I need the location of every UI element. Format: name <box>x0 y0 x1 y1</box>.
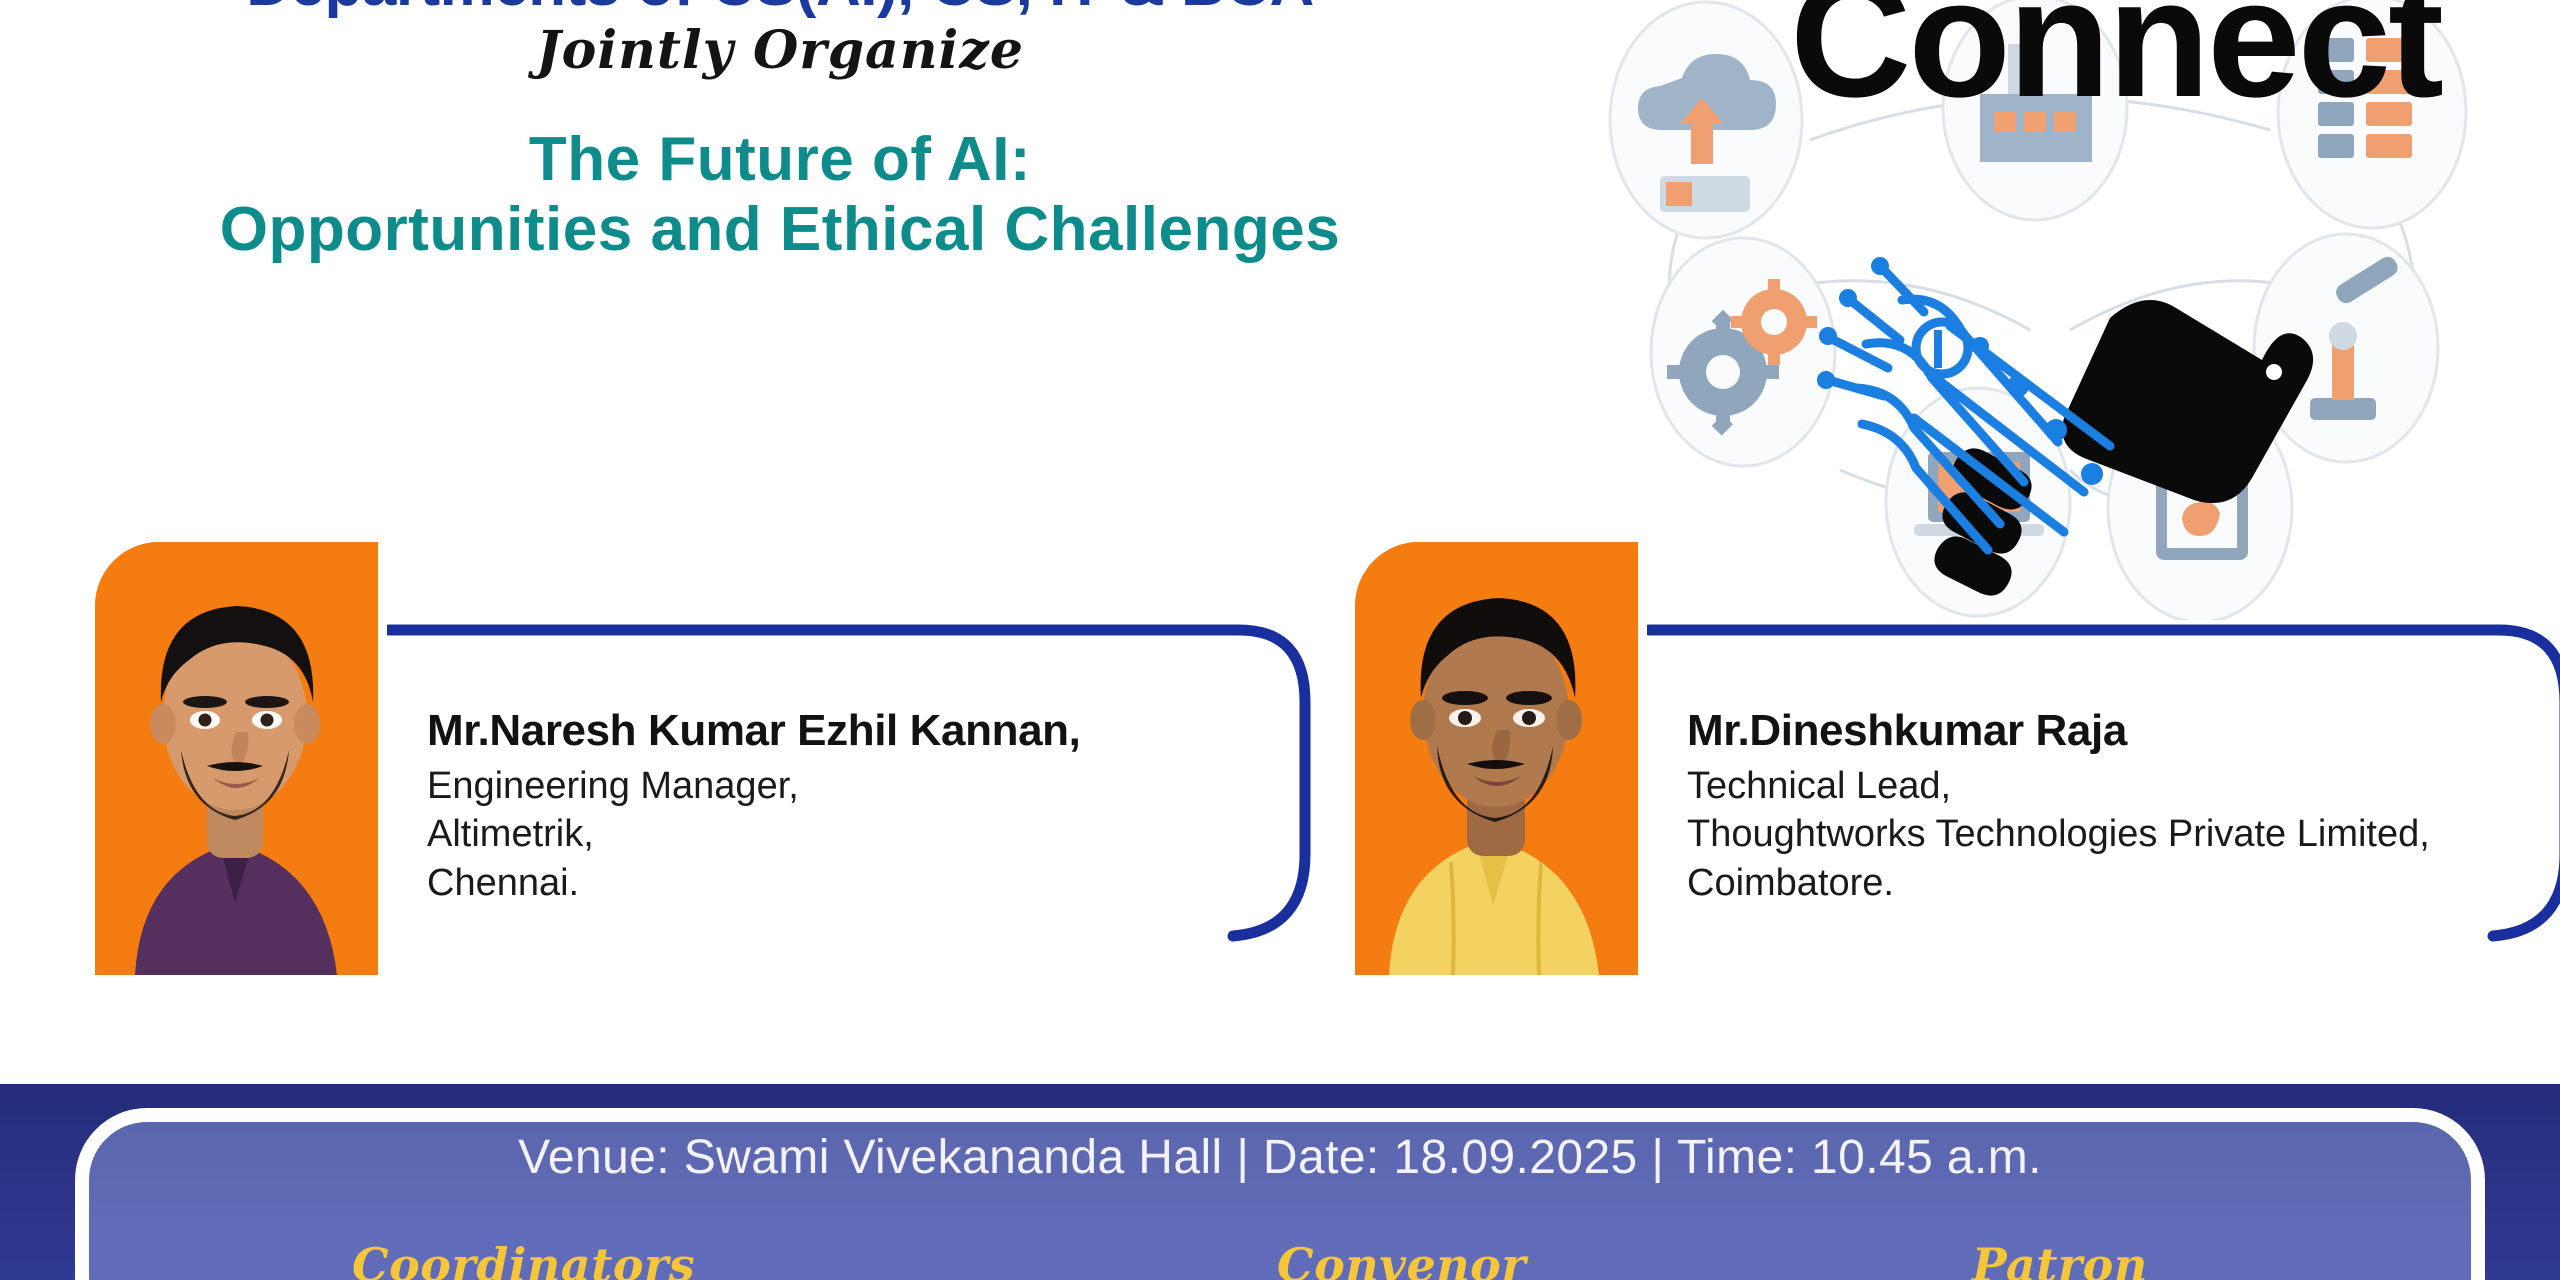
speaker-info-card-1: Mr.Naresh Kumar Ezhil Kannan, Engineerin… <box>387 622 1317 942</box>
cloud-upload-icon <box>1610 2 1802 238</box>
speaker-role-2: Technical Lead, <box>1687 762 2430 810</box>
speakers-row: Mr.Naresh Kumar Ezhil Kannan, Engineerin… <box>0 520 2560 1040</box>
speaker-city-1: Chennai. <box>427 859 1080 907</box>
speaker-info-card-2: Mr.Dineshkumar Raja Technical Lead, Thou… <box>1647 622 2560 942</box>
speaker-photo-2 <box>1355 542 1638 975</box>
role-label-patron: Patron <box>1972 1238 2148 1280</box>
venue-date-time-line: Venue: Swami Vivekananda Hall | Date: 18… <box>0 1130 2560 1185</box>
poster-header: Departments of CS(AI), CS, IT & BCA Join… <box>0 0 1560 264</box>
speaker-photo-1 <box>95 542 378 975</box>
speaker-info-text-2: Mr.Dineshkumar Raja Technical Lead, Thou… <box>1687 706 2430 907</box>
speaker-city-2: Coimbatore. <box>1687 859 2430 907</box>
speaker-company-1: Altimetrik, <box>427 810 1080 858</box>
role-label-convenor: Convenor <box>1277 1238 1526 1280</box>
speaker-card-2: Mr.Dineshkumar Raja Technical Lead, Thou… <box>1355 520 2560 990</box>
speaker-name-2: Mr.Dineshkumar Raja <box>1687 706 2430 756</box>
event-details-banner: Venue: Swami Vivekananda Hall | Date: 18… <box>0 1084 2560 1280</box>
speaker-company-2: Thoughtworks Technologies Private Limite… <box>1687 810 2430 858</box>
organiser-roles: Coordinators Convenor Patron <box>0 1238 2560 1280</box>
speaker-card-1: Mr.Naresh Kumar Ezhil Kannan, Engineerin… <box>95 520 1325 990</box>
connect-wordmark: Connect <box>1790 0 2441 122</box>
gears-icon <box>1651 238 1835 466</box>
role-label-coordinators: Coordinators <box>352 1238 695 1280</box>
topic-title: The Future of AI: Opportunities and Ethi… <box>0 125 1560 264</box>
speaker-role-1: Engineering Manager, <box>427 762 1080 810</box>
speaker-info-text-1: Mr.Naresh Kumar Ezhil Kannan, Engineerin… <box>427 706 1080 907</box>
jointly-organize-line: Jointly Organize <box>0 20 1560 81</box>
topic-line-1: The Future of AI: <box>0 125 1560 194</box>
speaker-name-1: Mr.Naresh Kumar Ezhil Kannan, <box>427 706 1080 756</box>
departments-line: Departments of CS(AI), CS, IT & BCA <box>0 0 1560 4</box>
topic-line-2: Opportunities and Ethical Challenges <box>0 195 1560 264</box>
